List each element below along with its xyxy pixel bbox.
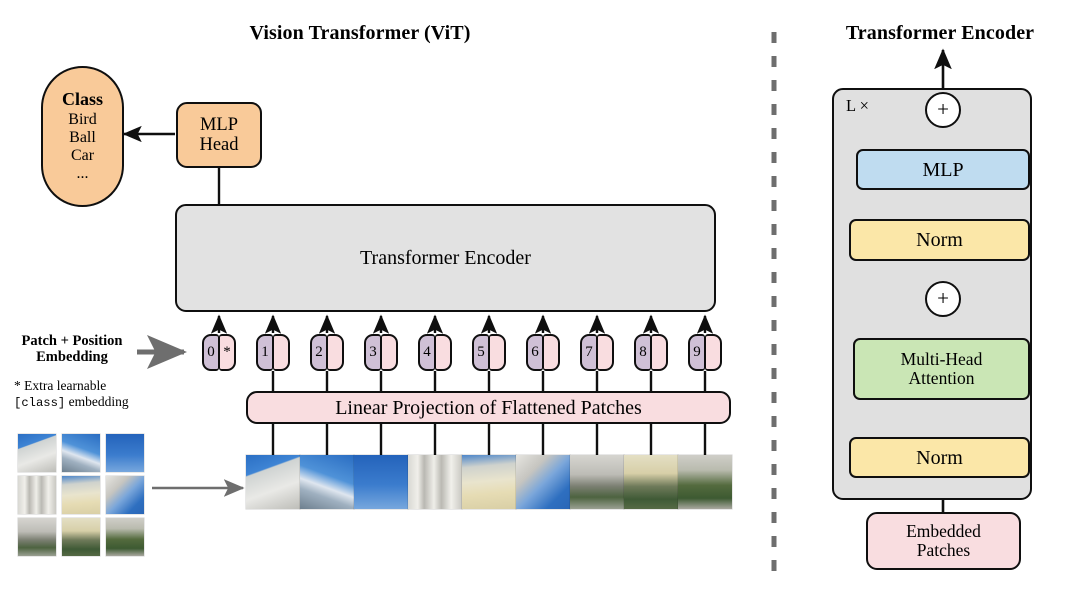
- source-patch-r2-c2: [62, 476, 100, 514]
- attention-label-line1: Multi-Head: [901, 350, 983, 369]
- embedded-patches-line1: Embedded: [906, 522, 981, 541]
- linear-projection-label: Linear Projection of Flattened Patches: [335, 397, 642, 419]
- class-token-marker: *: [219, 334, 236, 371]
- token-embedding-9: [705, 334, 722, 371]
- token-embedding-2: [327, 334, 344, 371]
- token-4[interactable]: 4: [418, 334, 452, 371]
- patch-position-embedding-label: Patch + Position Embedding: [8, 333, 136, 365]
- transformer-encoder-box[interactable]: Transformer Encoder: [175, 204, 716, 312]
- token-embedding-6: [543, 334, 560, 371]
- token-embedding-1: [273, 334, 290, 371]
- norm-top-label: Norm: [916, 229, 963, 251]
- linear-projection-box[interactable]: Linear Projection of Flattened Patches: [246, 391, 731, 424]
- token-3[interactable]: 3: [364, 334, 398, 371]
- mlp-block[interactable]: MLP: [856, 149, 1030, 190]
- class-item-ellipsis: ...: [77, 165, 89, 183]
- patch-position-label-line2: Embedding: [8, 349, 136, 365]
- mlp-head-label-line1: MLP: [200, 115, 238, 135]
- class-item-ball: Ball: [69, 129, 96, 147]
- class-heading: Class: [62, 89, 103, 110]
- residual-add-top: +: [925, 92, 961, 128]
- token-index-8: 8: [634, 334, 651, 371]
- token-index-2: 2: [310, 334, 327, 371]
- norm-block-top[interactable]: Norm: [849, 219, 1030, 261]
- image-patch-1: [246, 455, 300, 509]
- image-patch-8: [624, 455, 678, 509]
- footnote-line2: [class] embedding: [14, 394, 164, 411]
- transformer-encoder-label: Transformer Encoder: [360, 247, 531, 269]
- token-index-4: 4: [418, 334, 435, 371]
- token-index-6: 6: [526, 334, 543, 371]
- token-5[interactable]: 5: [472, 334, 506, 371]
- source-image-grid: [18, 434, 144, 554]
- source-patch-r3-c3: [106, 518, 144, 556]
- class-token-footnote: * Extra learnable [class] embedding: [14, 378, 164, 411]
- norm-bottom-label: Norm: [916, 447, 963, 469]
- token-8[interactable]: 8: [634, 334, 668, 371]
- token-embedding-3: [381, 334, 398, 371]
- image-patch-6: [516, 455, 570, 509]
- repeat-count-label: L ×: [846, 96, 869, 116]
- source-patch-r1-c2: [62, 434, 100, 472]
- class-output-box[interactable]: Class Bird Ball Car ...: [41, 66, 124, 207]
- source-patch-r1-c3: [106, 434, 144, 472]
- embedded-patches-block[interactable]: Embedded Patches: [866, 512, 1021, 570]
- norm-block-bottom[interactable]: Norm: [849, 437, 1030, 478]
- image-patch-4: [408, 455, 462, 509]
- class-item-car: Car: [71, 147, 94, 165]
- token-index-0: 0: [202, 334, 219, 371]
- figure-canvas: Vision Transformer (ViT) Transformer Enc…: [0, 0, 1080, 593]
- token-7[interactable]: 7: [580, 334, 614, 371]
- source-patch-r2-c3: [106, 476, 144, 514]
- source-patch-r2-c1: [18, 476, 56, 514]
- lines-patches-to-projection: [273, 423, 705, 455]
- embedded-patches-line2: Patches: [917, 541, 970, 560]
- multi-head-attention-block[interactable]: Multi-Head Attention: [853, 338, 1030, 400]
- token-index-1: 1: [256, 334, 273, 371]
- image-patch-7: [570, 455, 624, 509]
- footnote-line1: * Extra learnable: [14, 378, 164, 394]
- source-patch-r1-c1: [18, 434, 56, 472]
- token-9[interactable]: 9: [688, 334, 722, 371]
- token-embedding-5: [489, 334, 506, 371]
- attention-label-line2: Attention: [908, 369, 974, 388]
- left-panel-title: Vision Transformer (ViT): [170, 22, 550, 45]
- token-index-3: 3: [364, 334, 381, 371]
- token-6[interactable]: 6: [526, 334, 560, 371]
- source-patch-r3-c1: [18, 518, 56, 556]
- arrows-tokens-to-encoder: [219, 316, 705, 333]
- token-embedding-8: [651, 334, 668, 371]
- token-index-5: 5: [472, 334, 489, 371]
- token-embedding-7: [597, 334, 614, 371]
- patch-position-label-line1: Patch + Position: [8, 333, 136, 349]
- lines-projection-to-tokens: [273, 371, 705, 391]
- mlp-head-box[interactable]: MLP Head: [176, 102, 262, 168]
- token-embedding-4: [435, 334, 452, 371]
- footnote-class-token: [class]: [14, 396, 65, 410]
- mlp-head-label-line2: Head: [199, 135, 238, 155]
- image-patch-3: [354, 455, 408, 509]
- right-panel-title: Transformer Encoder: [800, 22, 1080, 45]
- class-item-bird: Bird: [68, 111, 96, 129]
- token-1[interactable]: 1: [256, 334, 290, 371]
- image-patch-5: [462, 455, 516, 509]
- token-index-7: 7: [580, 334, 597, 371]
- image-patch-9: [678, 455, 732, 509]
- image-patch-2: [300, 455, 354, 509]
- plus-symbol-top: +: [937, 98, 949, 121]
- footnote-line2-tail: embedding: [65, 394, 128, 409]
- plus-symbol-bottom: +: [937, 287, 949, 310]
- token-0[interactable]: 0*: [202, 334, 236, 371]
- token-index-9: 9: [688, 334, 705, 371]
- source-patch-r3-c2: [62, 518, 100, 556]
- token-2[interactable]: 2: [310, 334, 344, 371]
- residual-add-bottom: +: [925, 281, 961, 317]
- mlp-block-label: MLP: [922, 159, 963, 181]
